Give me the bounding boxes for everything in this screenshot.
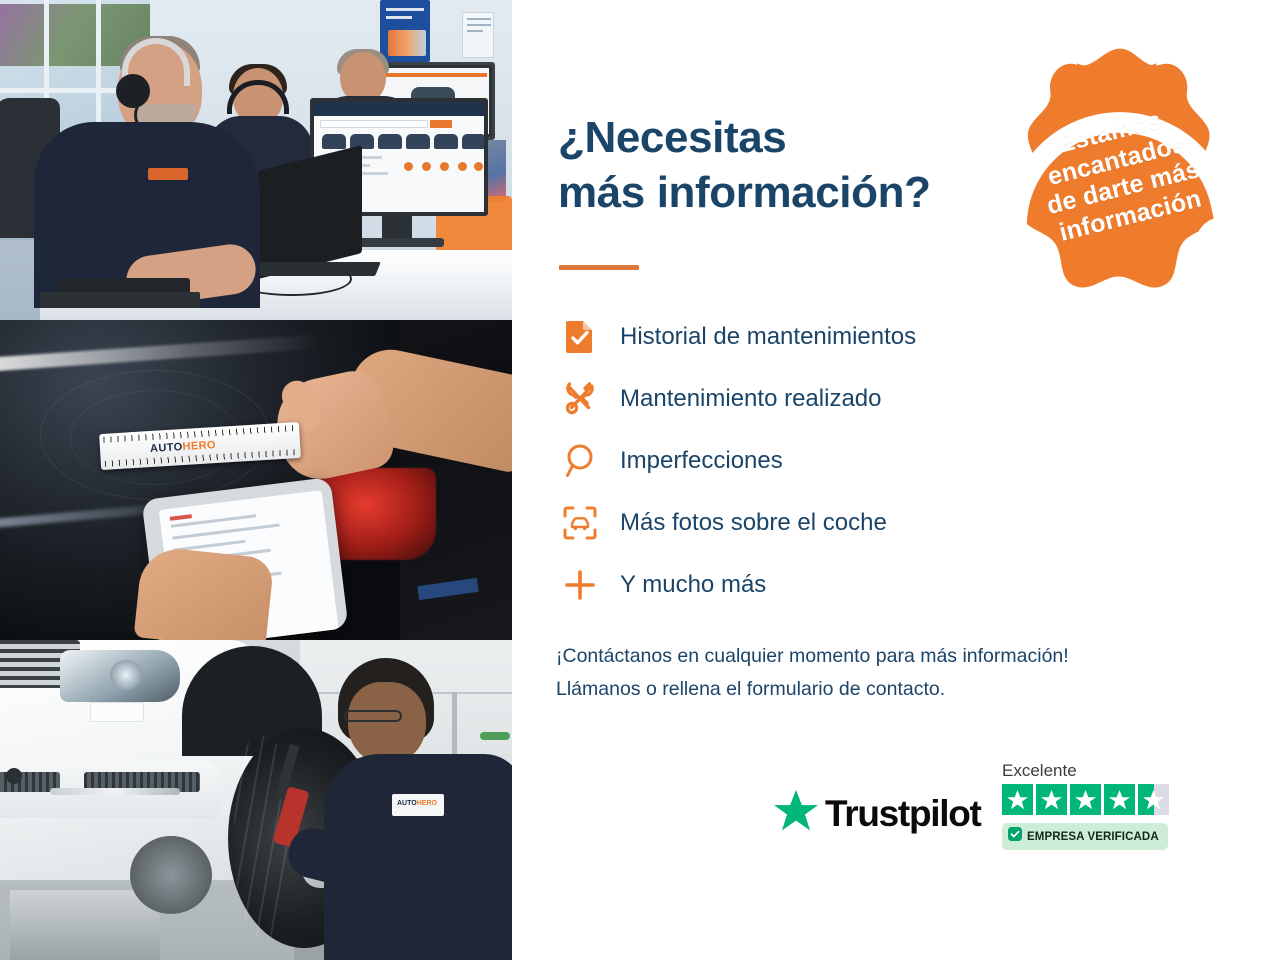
call-center-agents-photo: [0, 0, 512, 320]
feature-item: Imperfecciones: [556, 430, 1176, 492]
verified-company-badge: EMPRESA VERIFICADA: [1002, 823, 1168, 850]
desk-notebook: [40, 292, 200, 308]
verified-label: EMPRESA VERIFICADA: [1027, 831, 1159, 843]
page-title-line-2: más información?: [558, 165, 931, 220]
badge-line-4: información: [1015, 174, 1245, 257]
trustpilot-widget[interactable]: Trustpilot Excelente: [774, 762, 1194, 887]
magnifier-icon: [556, 444, 604, 478]
content-panel: Estamos encantados de darte más informac…: [512, 0, 1280, 960]
star-filled: [1002, 784, 1033, 815]
feature-label: Más fotos sobre el coche: [620, 509, 887, 537]
car-scan-icon: [556, 506, 604, 540]
brake-rotor: [130, 836, 212, 914]
trustpilot-star-icon: [774, 790, 818, 837]
feature-item: Y mucho más: [556, 554, 1176, 616]
trustpilot-wordmark: Trustpilot: [825, 793, 981, 835]
promo-page: AUTOHERO: [0, 0, 1280, 960]
car-headlight: [60, 650, 180, 702]
title-divider: [559, 265, 639, 270]
trustpilot-logo[interactable]: Trustpilot: [774, 790, 981, 837]
badge-line-1: Estamos: [995, 91, 1225, 174]
workshop-wheel-change-photo: AUTOHERO: [0, 640, 512, 960]
feature-label: Imperfecciones: [620, 447, 783, 475]
page-title: ¿Necesitas más información?: [558, 110, 931, 221]
car-inspection-ruler-photo: AUTOHERO: [0, 320, 512, 640]
monitor-base: [352, 238, 444, 247]
mechanic: AUTOHERO: [330, 658, 512, 960]
star-rating: [1002, 784, 1178, 815]
verified-check-icon: [1008, 827, 1022, 846]
plus-icon: [556, 569, 604, 601]
fog-light: [6, 768, 22, 784]
photo-column: AUTOHERO: [0, 0, 512, 960]
lift-column: [10, 890, 160, 960]
feature-label: Y mucho más: [620, 571, 766, 599]
contact-line-2: Llámanos o rellena el formulario de cont…: [556, 673, 1236, 706]
star-filled: [1070, 784, 1101, 815]
star-partial: [1138, 784, 1169, 815]
star-filled: [1036, 784, 1067, 815]
license-plate-area: [90, 702, 144, 722]
wall-document: [462, 12, 494, 58]
page-title-line-1: ¿Necesitas: [558, 110, 931, 165]
contact-paragraph: ¡Contáctanos en cualquier momento para m…: [556, 640, 1236, 706]
feature-list: Historial de mantenimientos Mantenimient…: [556, 306, 1176, 616]
feature-item: Historial de mantenimientos: [556, 306, 1176, 368]
feature-label: Mantenimiento realizado: [620, 385, 881, 413]
badge-text: Estamos encantados de darte más informac…: [995, 91, 1246, 257]
badge-line-2: encantados: [1002, 119, 1232, 202]
contact-line-1: ¡Contáctanos en cualquier momento para m…: [556, 640, 1236, 673]
promo-starburst-badge: Estamos encantados de darte más informac…: [986, 46, 1254, 314]
tools-wrench-screwdriver-icon: [556, 382, 604, 416]
feature-item: Mantenimiento realizado: [556, 368, 1176, 430]
background-blue-strip: [417, 578, 478, 600]
tablet-holding-hand: [134, 545, 275, 640]
monitor-stand: [382, 216, 412, 240]
rating-word: Excelente: [1002, 762, 1178, 779]
trustpilot-rating: Excelente: [1002, 762, 1178, 850]
badge-line-3: de darte más: [1008, 146, 1238, 229]
document-check-icon: [556, 320, 604, 354]
chrome-trim: [50, 788, 180, 795]
feature-label: Historial de mantenimientos: [620, 323, 916, 351]
star-filled: [1104, 784, 1135, 815]
feature-item: Más fotos sobre el coche: [556, 492, 1176, 554]
